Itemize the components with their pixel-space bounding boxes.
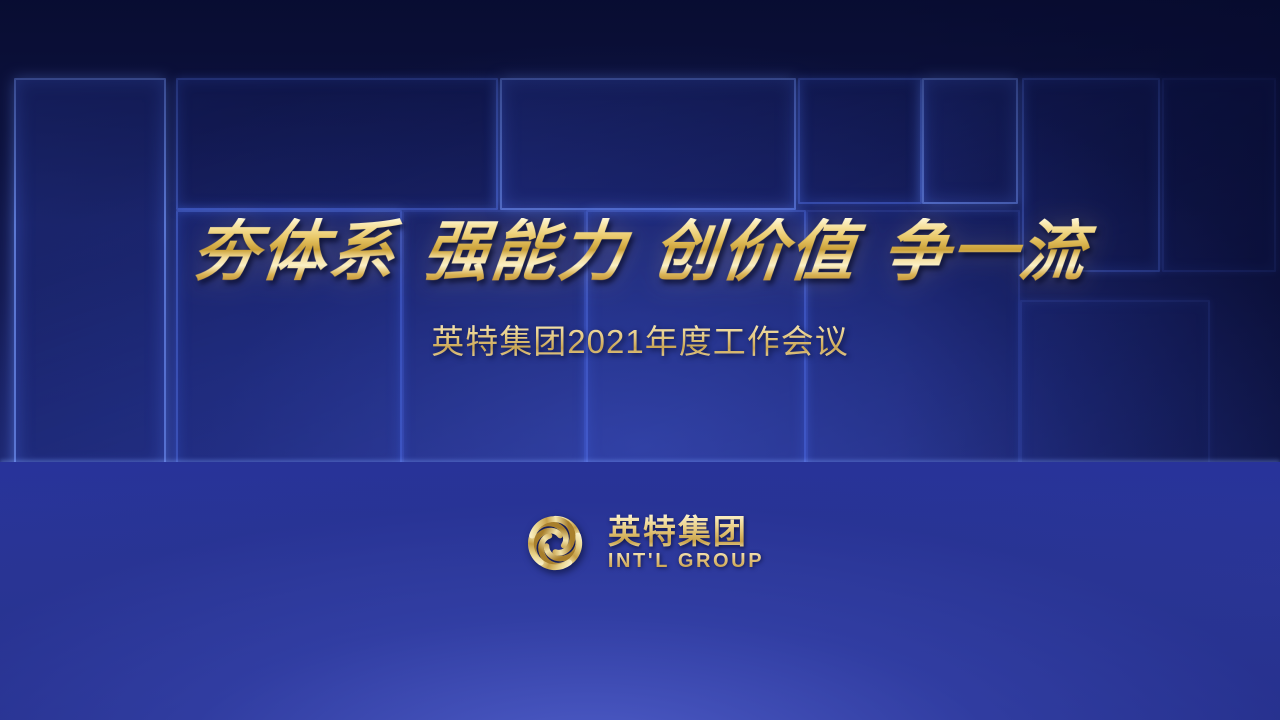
logo-name-cn: 英特集团 — [608, 514, 748, 550]
slide-content: 夯体系强能力创价值争一流 英特集团2021年度工作会议 — [0, 0, 1280, 720]
headline-phrase: 强能力 — [419, 214, 631, 288]
headline-phrase: 争一流 — [879, 214, 1091, 288]
intl-group-pinwheel-knot-icon — [516, 504, 594, 582]
logo-lockup: 英特集团 INT'L GROUP — [0, 500, 1280, 586]
slide-headline: 夯体系强能力创价值争一流 — [0, 218, 1280, 284]
headline-phrase: 创价值 — [649, 214, 861, 288]
headline-phrase: 夯体系 — [189, 214, 401, 288]
logo-wordmark: 英特集团 INT'L GROUP — [608, 514, 764, 573]
presentation-slide: 夯体系强能力创价值争一流 英特集团2021年度工作会议 — [0, 0, 1280, 720]
logo-name-en: INT'L GROUP — [608, 550, 764, 572]
slide-subtitle: 英特集团2021年度工作会议 — [0, 325, 1280, 358]
